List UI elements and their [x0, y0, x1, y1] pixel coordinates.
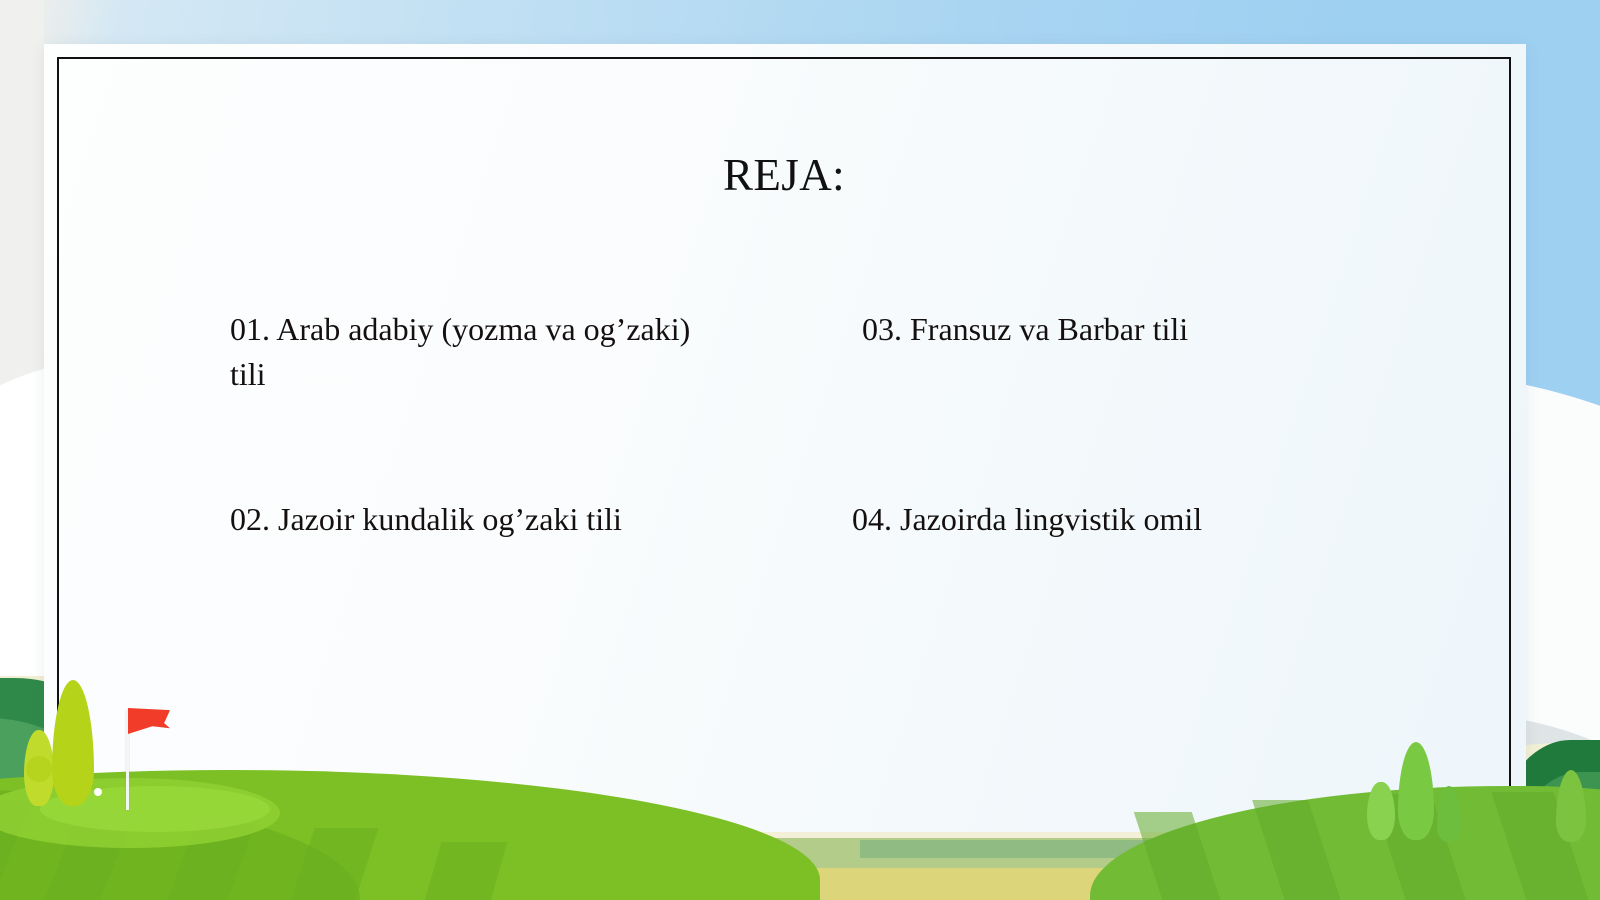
foreground-illustration	[0, 0, 1600, 900]
tree-shape	[1556, 770, 1586, 842]
golf-ball-icon	[94, 788, 102, 796]
tree-shape	[1398, 742, 1434, 840]
tree-shape	[52, 680, 94, 806]
tree-shape	[26, 756, 52, 782]
tree-shape	[1367, 782, 1395, 840]
golf-flag-icon	[128, 708, 170, 734]
slide-canvas: REJA: 01. Arab adabiy (yozma va og’zaki)…	[0, 0, 1600, 900]
